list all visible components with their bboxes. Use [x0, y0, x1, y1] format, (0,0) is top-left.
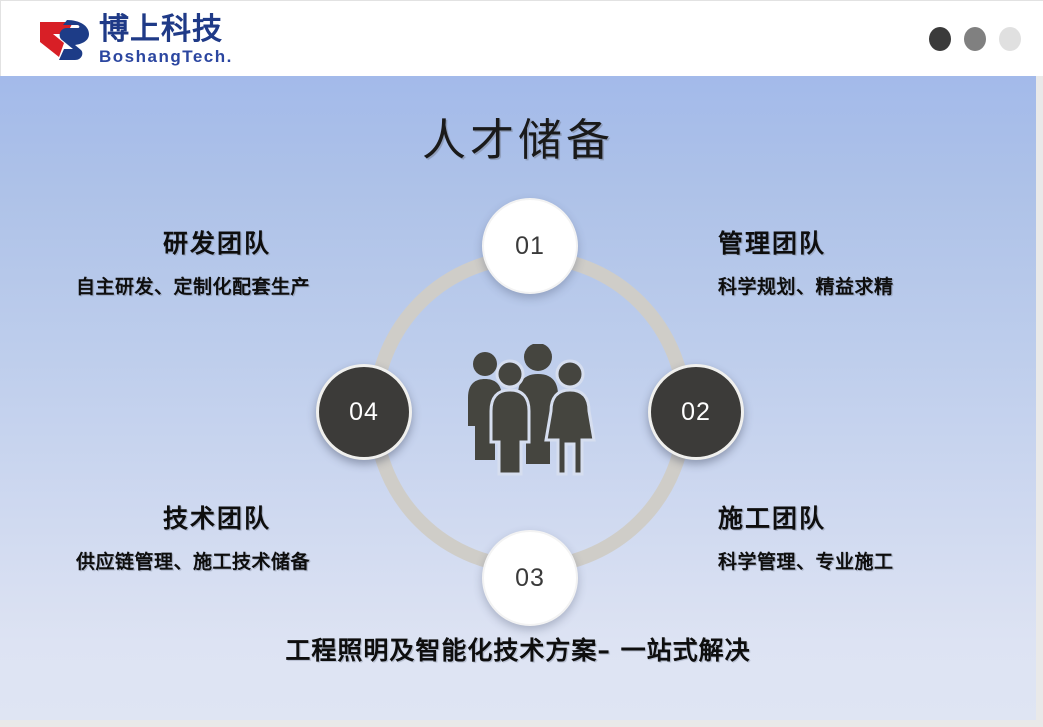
group-of-people-icon	[458, 344, 602, 480]
diagram-node-04-label: 04	[349, 398, 379, 427]
header-dot-group	[929, 27, 1021, 51]
presentation-slide: 博上科技 BoshangTech. 人才储备 研发团队 自主研发、定制化配套生产…	[0, 0, 1043, 727]
diagram-node-02[interactable]: 02	[648, 364, 744, 460]
diagram-node-04[interactable]: 04	[316, 364, 412, 460]
circular-diagram: 01 02 03 04	[320, 202, 740, 622]
diagram-node-01-label: 01	[515, 232, 545, 261]
slide-canvas: 人才储备 研发团队 自主研发、定制化配套生产 管理团队 科学规划、精益求精 技术…	[0, 76, 1036, 720]
page-title: 人才储备	[0, 104, 1036, 168]
boshang-b-mark-icon	[37, 16, 93, 64]
quadrant-bottom-right-heading: 施工团队	[718, 499, 1008, 535]
diagram-node-03[interactable]: 03	[482, 530, 578, 626]
diagram-node-01[interactable]: 01	[482, 198, 578, 294]
diagram-node-02-label: 02	[681, 398, 711, 427]
dot-light-icon	[999, 27, 1021, 51]
dot-dark-icon	[929, 27, 951, 51]
quadrant-bottom-right: 施工团队 科学管理、专业施工	[718, 499, 1008, 574]
quadrant-bottom-right-subtext: 科学管理、专业施工	[718, 547, 1008, 574]
dot-medium-icon	[964, 27, 986, 51]
quadrant-top-right: 管理团队 科学规划、精益求精	[718, 224, 1008, 299]
company-logo: 博上科技 BoshangTech.	[37, 13, 233, 67]
logo-wordmark: 博上科技 BoshangTech.	[99, 15, 233, 65]
quadrant-top-right-subtext: 科学规划、精益求精	[718, 272, 1008, 299]
quadrant-top-right-heading: 管理团队	[718, 224, 1008, 260]
slide-caption: 工程照明及智能化技术方案– 一站式解决	[0, 631, 1036, 667]
diagram-node-03-label: 03	[515, 564, 545, 593]
logo-english-name: BoshangTech.	[99, 48, 233, 65]
logo-chinese-name: 博上科技	[99, 15, 233, 46]
slide-header: 博上科技 BoshangTech.	[0, 0, 1043, 76]
